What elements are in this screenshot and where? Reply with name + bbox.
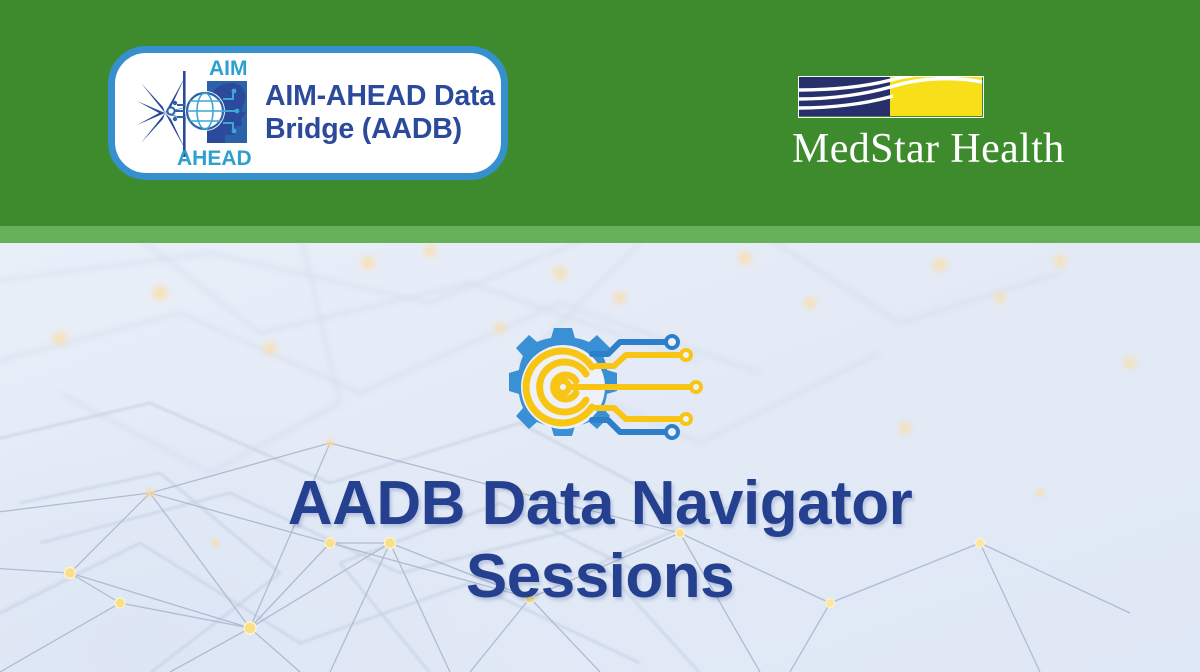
medstar-health-logo: MedStar Health <box>792 76 1102 170</box>
slide-canvas: AIM AHEAD AIM-AHEAD Data Bridge (AADB) M… <box>0 0 1200 672</box>
medstar-wordmark: MedStar Health <box>792 128 1102 170</box>
medstar-emblem-icon <box>798 76 984 118</box>
page-title: AADB Data Navigator Sessions <box>0 467 1200 613</box>
gear-circuit-icon <box>496 328 708 446</box>
aim-ahead-logo-icon: AIM AHEAD <box>125 57 257 169</box>
ahead-word: AHEAD <box>177 147 252 169</box>
aadb-badge-title: AIM-AHEAD Data Bridge (AADB) <box>265 80 495 146</box>
aim-word: AIM <box>209 57 248 80</box>
header-band-light <box>0 226 1200 243</box>
aadb-logo-badge: AIM AHEAD AIM-AHEAD Data Bridge (AADB) <box>108 46 508 180</box>
